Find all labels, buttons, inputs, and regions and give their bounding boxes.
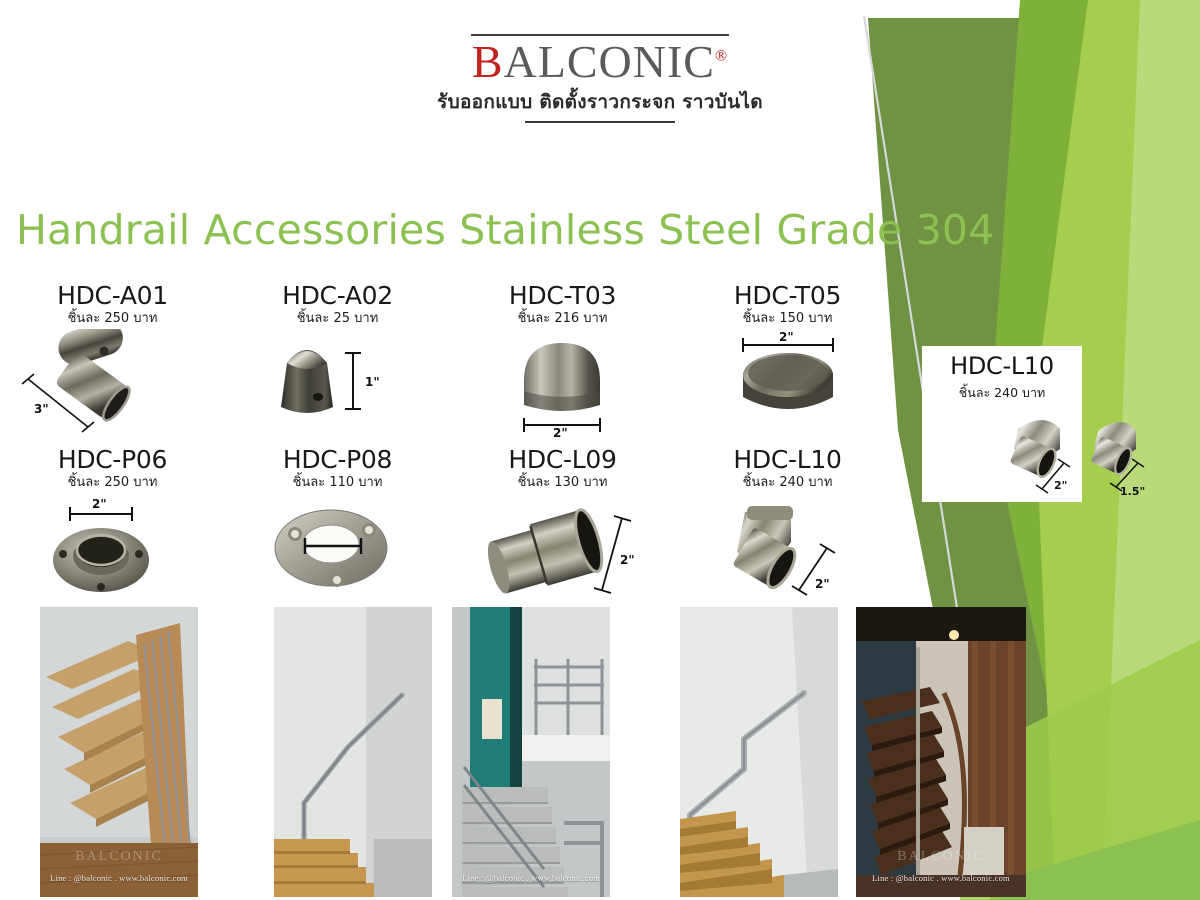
- product-code: HDC-T05: [675, 283, 900, 309]
- inset-dimension-label: 2": [1054, 479, 1067, 492]
- product-image-elbow-connector: 2": [675, 492, 900, 600]
- inset-panel-hdc-l10[interactable]: HDC-L10 ชิ้นละ 240 บาท: [922, 346, 1082, 502]
- product-cell-hdc-p06[interactable]: HDC-P06 ชิ้นละ 250 บาท: [0, 447, 225, 601]
- photo-watermark-line: Line : @balconic . www.balconic.com: [856, 873, 1026, 883]
- product-price: ชิ้นละ 130 บาท: [450, 476, 675, 490]
- inset-product-price: ชิ้นละ 240 บาท: [922, 383, 1082, 403]
- product-grid: HDC-A01 ชิ้นละ 250 บาท: [0, 283, 900, 600]
- dimension-label: 2": [92, 497, 107, 511]
- product-row: HDC-A01 ชิ้นละ 250 บาท: [0, 283, 900, 437]
- product-code: HDC-L10: [675, 447, 900, 473]
- product-cell-hdc-a02[interactable]: HDC-A02 ชิ้นละ 25 บาท: [225, 283, 450, 437]
- product-code: HDC-P08: [225, 447, 450, 473]
- photo-watermark-brand: BALCONIC: [40, 849, 198, 865]
- slide-canvas: BALCONIC® รับออกแบบ ติดตั้งราวกระจก ราวบ…: [0, 0, 1200, 900]
- product-code: HDC-T03: [450, 283, 675, 309]
- photo-watermark-brand: BALCONIC: [856, 849, 1026, 865]
- product-code: HDC-A02: [225, 283, 450, 309]
- photo-item[interactable]: BALCONIC Line : @balconic . www.balconic…: [40, 607, 198, 897]
- product-image-dome-end-cap: 2": [450, 329, 675, 437]
- product-code: HDC-P06: [0, 447, 225, 473]
- product-image-cone-end-cap: 1": [225, 329, 450, 437]
- product-cell-hdc-l10[interactable]: HDC-L10 ชิ้นละ 240 บาท: [675, 447, 900, 601]
- product-cell-hdc-t05[interactable]: HDC-T05 ชิ้นละ 150 บาท: [675, 283, 900, 437]
- dimension-label: 2": [553, 426, 568, 437]
- product-cell-hdc-p08[interactable]: HDC-P08 ชิ้นละ 110 บาท: [225, 447, 450, 601]
- product-price: ชิ้นละ 250 บาท: [0, 312, 225, 326]
- product-price: ชิ้นละ 150 บาท: [675, 312, 900, 326]
- product-price: ชิ้นละ 240 บาท: [675, 476, 900, 490]
- brand-logo: BALCONIC® รับออกแบบ ติดตั้งราวกระจก ราวบ…: [0, 34, 1200, 123]
- brand-initial: B: [472, 36, 504, 87]
- photo-watermark-line: Line : @balconic . www.balconic.com: [40, 873, 198, 883]
- inset-product-code: HDC-L10: [922, 346, 1082, 380]
- dimension-label: 3": [34, 402, 49, 416]
- inset-dimension-label: 1.5": [1120, 485, 1145, 497]
- product-cell-hdc-t03[interactable]: HDC-T03 ชิ้นละ 216 บาท: [450, 283, 675, 437]
- product-code: HDC-A01: [0, 283, 225, 309]
- page-title: Handrail Accessories Stainless Steel Gra…: [16, 206, 995, 254]
- product-code: HDC-L09: [450, 447, 675, 473]
- product-cell-hdc-a01[interactable]: HDC-A01 ชิ้นละ 250 บาท: [0, 283, 225, 437]
- dimension-label: 2": [815, 577, 830, 591]
- product-image-straight-coupling: 2": [450, 492, 675, 600]
- brand-wordmark: BALCONIC®: [0, 38, 1200, 86]
- inset-elbow-small: 1.5": [1090, 422, 1145, 497]
- installation-photo-strip: BALCONIC Line : @balconic . www.balconic…: [0, 607, 1200, 897]
- dimension-label: 1": [365, 375, 380, 389]
- photo-item[interactable]: Line : @balconic . www.balconic.com: [452, 607, 610, 897]
- product-price: ชิ้นละ 250 บาท: [0, 476, 225, 490]
- product-price: ชิ้นละ 216 บาท: [450, 312, 675, 326]
- product-image-round-base-flange: 2": [0, 492, 225, 600]
- inset-elbow-large: 2": [1009, 420, 1070, 493]
- registered-mark-icon: ®: [715, 48, 728, 65]
- product-price: ชิ้นละ 110 บาท: [225, 476, 450, 490]
- photo-item[interactable]: [680, 607, 838, 897]
- product-price: ชิ้นละ 25 บาท: [225, 312, 450, 326]
- product-row: HDC-P06 ชิ้นละ 250 บาท: [0, 447, 900, 601]
- product-image-angled-end-cap: 3": [0, 329, 225, 437]
- product-image-flat-flange-plate: [225, 492, 450, 600]
- photo-watermark-line: Line : @balconic . www.balconic.com: [452, 873, 610, 883]
- product-image-flat-end-cap: 2": [675, 329, 900, 437]
- dimension-label: 2": [620, 553, 635, 567]
- dimension-marker: [345, 353, 361, 409]
- brand-tagline: รับออกแบบ ติดตั้งราวกระจก ราวบันได: [0, 87, 1200, 117]
- dimension-label: 2": [779, 330, 794, 344]
- brand-rest: ALCONIC: [504, 36, 715, 87]
- photo-item[interactable]: [274, 607, 432, 897]
- inset-variant-images: 2" 1.5": [922, 405, 1082, 497]
- product-cell-hdc-l09[interactable]: HDC-L09 ชิ้นละ 130 บาท: [450, 447, 675, 601]
- logo-rule-bottom: [525, 121, 675, 123]
- photo-item[interactable]: BALCONIC Line : @balconic . www.balconic…: [856, 607, 1026, 897]
